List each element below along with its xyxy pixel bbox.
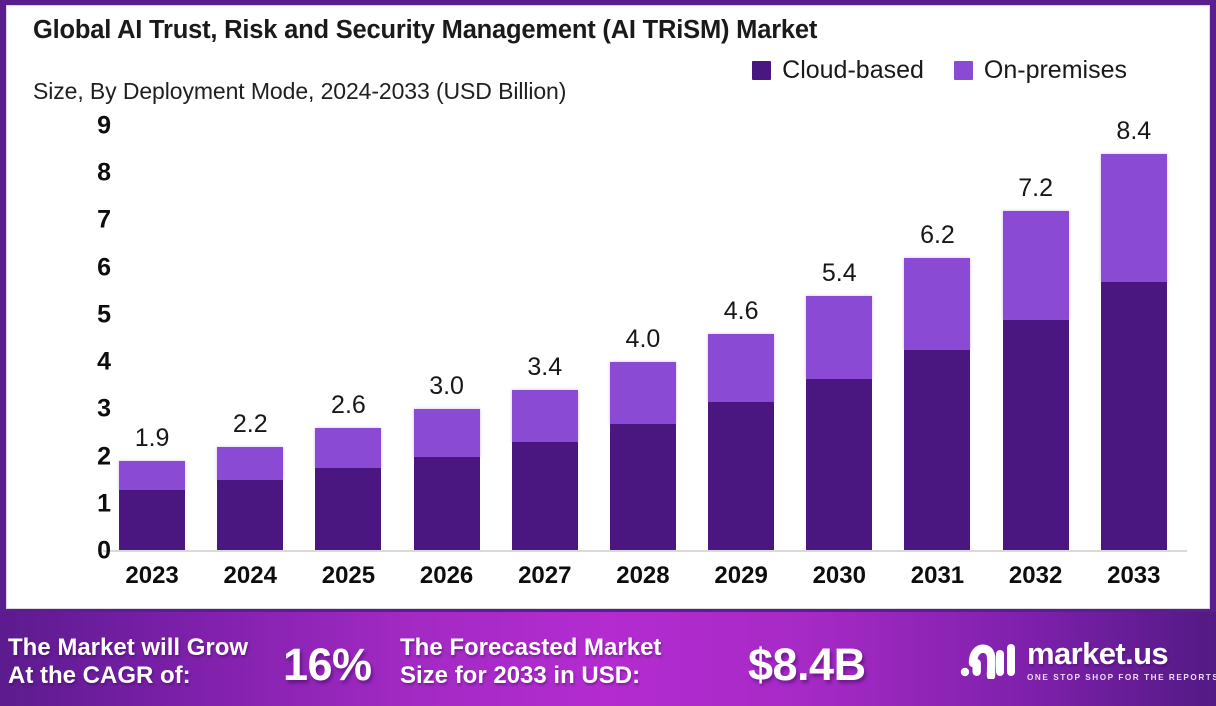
- legend-swatch-icon: [954, 61, 973, 80]
- chart-card: Global AI Trust, Risk and Security Manag…: [6, 5, 1210, 609]
- bar-value-label: 2.2: [233, 410, 268, 439]
- y-axis-tick-label: 6: [65, 253, 111, 282]
- x-axis-label: 2028: [594, 562, 692, 590]
- chart-title: Global AI Trust, Risk and Security Manag…: [33, 16, 817, 45]
- bar-column[interactable]: 3.4: [496, 126, 594, 551]
- x-axis-labels: 2023202420252026202720282029203020312032…: [103, 562, 1183, 590]
- logo-text: market.us ONE STOP SHOP FOR THE REPORTS: [1027, 638, 1216, 682]
- bar-group: 1.92.22.63.03.44.04.65.46.27.28.4: [103, 126, 1183, 551]
- bar-segment-on-premises[interactable]: [414, 409, 480, 456]
- market-us-logo[interactable]: market.us ONE STOP SHOP FOR THE REPORTS: [960, 638, 1216, 682]
- footer-banner: The Market will Grow At the CAGR of: 16%…: [0, 612, 1216, 706]
- y-axis-tick-label: 4: [65, 348, 111, 377]
- y-axis-tick-label: 1: [65, 489, 111, 518]
- bar-segment-on-premises[interactable]: [217, 447, 283, 480]
- bar-segment-cloud-based[interactable]: [119, 490, 185, 551]
- bar-stack[interactable]: [904, 258, 970, 551]
- bar-column[interactable]: 7.2: [987, 126, 1085, 551]
- bar-column[interactable]: 1.9: [103, 126, 201, 551]
- bar-value-label: 1.9: [135, 424, 170, 453]
- forecast-label-line1: The Forecasted Market: [400, 634, 661, 662]
- x-axis-label: 2025: [299, 562, 397, 590]
- bar-value-label: 8.4: [1116, 117, 1151, 146]
- bar-value-label: 4.0: [626, 325, 661, 354]
- bar-column[interactable]: 3.0: [398, 126, 496, 551]
- y-axis-tick-label: 3: [65, 395, 111, 424]
- x-axis-label: 2029: [692, 562, 790, 590]
- bar-segment-on-premises[interactable]: [904, 258, 970, 350]
- y-axis-tick-label: 9: [65, 112, 111, 141]
- bar-segment-cloud-based[interactable]: [610, 424, 676, 552]
- x-axis-line: [103, 550, 1187, 552]
- x-axis-label: 2027: [496, 562, 594, 590]
- bar-segment-on-premises[interactable]: [708, 334, 774, 402]
- bar-segment-cloud-based[interactable]: [904, 350, 970, 551]
- bar-value-label: 3.4: [527, 353, 562, 382]
- y-axis-tick-label: 2: [65, 442, 111, 471]
- y-axis-tick-label: 5: [65, 300, 111, 329]
- chart-subtitle: Size, By Deployment Mode, 2024-2033 (USD…: [33, 78, 566, 105]
- bar-stack[interactable]: [414, 409, 480, 551]
- bar-column[interactable]: 2.6: [299, 126, 397, 551]
- cagr-label-line1: The Market will Grow: [8, 634, 248, 662]
- bar-value-label: 6.2: [920, 221, 955, 250]
- forecast-label: The Forecasted Market Size for 2033 in U…: [400, 634, 661, 691]
- x-axis-label: 2033: [1085, 562, 1183, 590]
- cagr-label-line2: At the CAGR of:: [8, 662, 248, 690]
- bar-segment-cloud-based[interactable]: [708, 402, 774, 551]
- bar-segment-on-premises[interactable]: [512, 390, 578, 442]
- bar-segment-cloud-based[interactable]: [414, 457, 480, 551]
- bar-stack[interactable]: [806, 296, 872, 551]
- bar-value-label: 4.6: [724, 297, 759, 326]
- market-us-mark-icon: [960, 641, 1016, 679]
- bar-segment-on-premises[interactable]: [315, 428, 381, 468]
- infographic-root: Global AI Trust, Risk and Security Manag…: [0, 0, 1216, 706]
- bar-stack[interactable]: [119, 461, 185, 551]
- bar-stack[interactable]: [708, 334, 774, 551]
- logo-name: market.us: [1027, 638, 1216, 669]
- chart-legend: Cloud-basedOn-premises: [752, 56, 1127, 85]
- bar-segment-cloud-based[interactable]: [315, 468, 381, 551]
- bar-stack[interactable]: [512, 390, 578, 551]
- legend-swatch-icon: [752, 61, 771, 80]
- cagr-label: The Market will Grow At the CAGR of:: [8, 634, 248, 691]
- bar-column[interactable]: 6.2: [888, 126, 986, 551]
- x-axis-label: 2031: [888, 562, 986, 590]
- x-axis-label: 2032: [987, 562, 1085, 590]
- bar-value-label: 5.4: [822, 259, 857, 288]
- bar-column[interactable]: 8.4: [1085, 126, 1183, 551]
- bar-value-label: 3.0: [429, 372, 464, 401]
- bar-stack[interactable]: [315, 428, 381, 551]
- logo-tagline: ONE STOP SHOP FOR THE REPORTS: [1027, 673, 1216, 682]
- bar-value-label: 7.2: [1018, 174, 1053, 203]
- bar-segment-on-premises[interactable]: [806, 296, 872, 379]
- bar-segment-cloud-based[interactable]: [1003, 320, 1069, 551]
- legend-label: Cloud-based: [782, 56, 924, 85]
- bar-segment-cloud-based[interactable]: [512, 442, 578, 551]
- forecast-label-line2: Size for 2033 in USD:: [400, 662, 661, 690]
- bar-segment-cloud-based[interactable]: [217, 480, 283, 551]
- bar-stack[interactable]: [610, 362, 676, 551]
- bar-column[interactable]: 4.0: [594, 126, 692, 551]
- y-axis-tick-label: 7: [65, 206, 111, 235]
- bar-stack[interactable]: [1003, 211, 1069, 551]
- bar-column[interactable]: 2.2: [201, 126, 299, 551]
- cagr-value: 16%: [283, 639, 372, 691]
- y-axis-tick-label: 8: [65, 159, 111, 188]
- x-axis-label: 2024: [201, 562, 299, 590]
- x-axis-label: 2023: [103, 562, 201, 590]
- bar-segment-on-premises[interactable]: [1101, 154, 1167, 282]
- bar-segment-cloud-based[interactable]: [1101, 282, 1167, 551]
- bar-stack[interactable]: [217, 447, 283, 551]
- bar-segment-on-premises[interactable]: [119, 461, 185, 489]
- bar-segment-on-premises[interactable]: [610, 362, 676, 423]
- bar-segment-on-premises[interactable]: [1003, 211, 1069, 320]
- legend-item-on-premises[interactable]: On-premises: [954, 56, 1127, 85]
- x-axis-label: 2030: [790, 562, 888, 590]
- bar-column[interactable]: 5.4: [790, 126, 888, 551]
- bar-stack[interactable]: [1101, 154, 1167, 551]
- plot-area: 1.92.22.63.03.44.04.65.46.27.28.4: [103, 126, 1183, 551]
- bar-column[interactable]: 4.6: [692, 126, 790, 551]
- x-axis-label: 2026: [398, 562, 496, 590]
- bar-segment-cloud-based[interactable]: [806, 379, 872, 551]
- bar-value-label: 2.6: [331, 391, 366, 420]
- legend-label: On-premises: [984, 56, 1127, 85]
- forecast-value: $8.4B: [748, 639, 866, 691]
- legend-item-cloud-based[interactable]: Cloud-based: [752, 56, 924, 85]
